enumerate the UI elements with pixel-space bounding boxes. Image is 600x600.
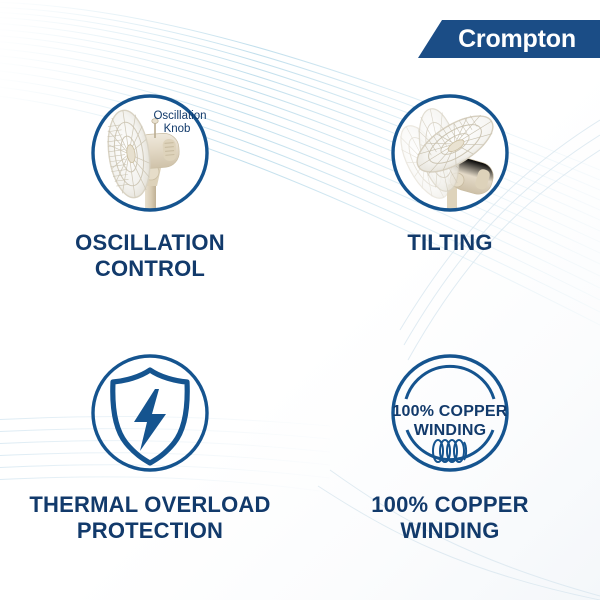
feature-copper-winding: 100% COPPER WINDING 100% COPPER WINDING [300, 336, 600, 586]
annotation-line-1: Oscillation [153, 110, 206, 122]
feature-thermal-overload-protection: THERMAL OVERLOAD PROTECTION [0, 336, 300, 586]
feature-caption-oscillation-control: OSCILLATION CONTROL [75, 230, 225, 282]
feature-caption-tilting: TILTING [407, 230, 492, 256]
lightning-bolt-glyph [134, 389, 166, 451]
brand-name: Crompton [458, 25, 576, 54]
annotation-line-2: Knob [164, 123, 191, 135]
copper-winding-badge-icon: 100% COPPER WINDING [385, 348, 515, 478]
feature-tilting: TILTING [300, 86, 600, 336]
feature-caption-copper-winding: 100% COPPER WINDING [371, 492, 529, 544]
fan-tilting-photo-icon [385, 88, 515, 218]
badge-line-2: WINDING [414, 422, 487, 439]
badge-line-1: 100% COPPER [392, 403, 507, 420]
feature-oscillation-control: Oscillation Knob OSCILLATION CONTROL [0, 86, 300, 336]
fan-oscillation-photo-icon: Oscillation Knob [85, 88, 215, 218]
feature-grid: Oscillation Knob OSCILLATION CONTROL [0, 86, 600, 586]
feature-caption-thermal-overload-protection: THERMAL OVERLOAD PROTECTION [29, 492, 270, 544]
brand-banner: Crompton [418, 20, 600, 58]
shield-bolt-icon [85, 348, 215, 478]
product-feature-infographic: Crompton [0, 0, 600, 600]
